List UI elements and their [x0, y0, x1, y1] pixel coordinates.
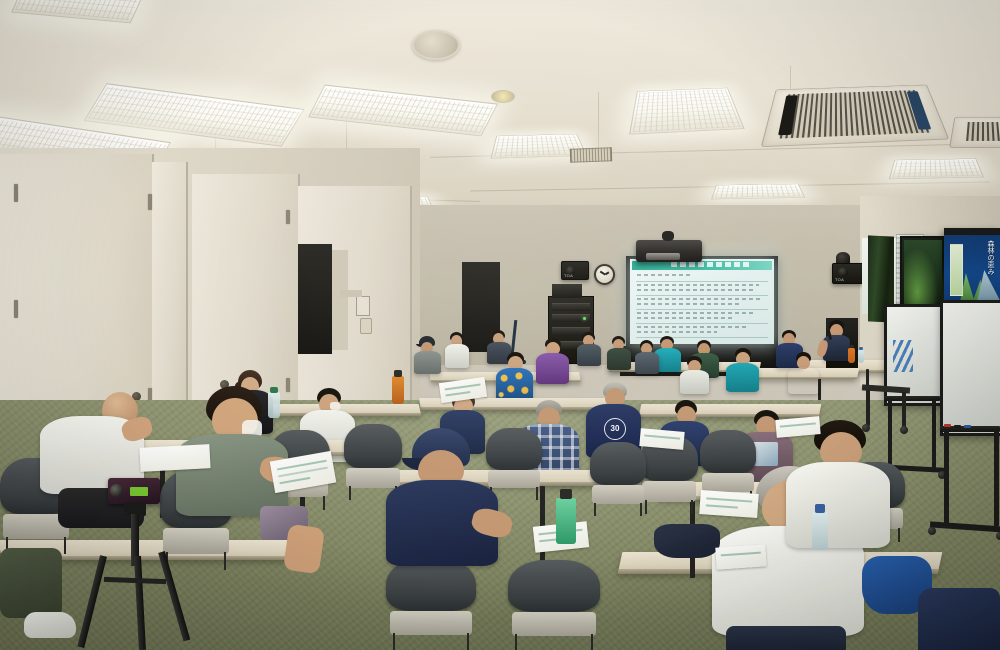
fluorescent-troffer [11, 0, 145, 23]
mobile-whiteboard-near[interactable] [940, 300, 1000, 436]
whiteboard-leg [994, 430, 999, 526]
clear-water-bottle[interactable] [268, 392, 280, 418]
speaker-brand-label: TOA [564, 273, 573, 278]
tea-bottle[interactable] [848, 348, 855, 363]
attendee-second-row-far-c [634, 340, 660, 374]
wall-speaker-left: TOA [561, 261, 589, 280]
seminar-room-photo: TOA TOA 森林の恵み [0, 0, 1000, 650]
partition-hinge [148, 194, 152, 210]
printed-handout[interactable] [699, 490, 759, 518]
printed-handout[interactable] [715, 544, 766, 569]
attendee-second-row-far-b [606, 336, 632, 370]
red-marker[interactable] [944, 424, 951, 427]
wall-clock [594, 264, 615, 285]
recessed-downlight [491, 90, 515, 103]
fluorescent-troffer [889, 158, 984, 179]
printed-handout[interactable] [639, 428, 684, 450]
ceiling-cassette-air-conditioner [761, 85, 950, 148]
trousers [726, 626, 846, 650]
leg [283, 524, 325, 575]
poster-vertical-text: 森林の恵み [983, 240, 994, 275]
wall-phone[interactable] [360, 318, 372, 334]
ceiling-cassette-air-conditioner [949, 117, 1000, 148]
green-sports-bottle[interactable] [556, 498, 576, 544]
table-leg [902, 392, 906, 428]
wall-switch-panel[interactable] [356, 296, 370, 316]
whiteboard-leg [944, 430, 949, 528]
ceiling-projector [636, 240, 702, 262]
table-caster [900, 426, 908, 434]
attendee-second-row-far-d [680, 356, 710, 394]
chair[interactable] [590, 442, 646, 516]
whiteboard-caster [928, 527, 936, 535]
anniversary-badge: 30 [604, 418, 626, 440]
wall-sign [340, 290, 362, 297]
fluorescent-troffer [308, 85, 498, 137]
partition-hinge [14, 184, 18, 202]
whiteboard-leg [932, 398, 936, 468]
attendee-gray-cap-far [414, 336, 442, 374]
attendee-teal-polo [726, 348, 760, 392]
return-air-vent [570, 147, 612, 162]
black-marker[interactable] [954, 425, 961, 428]
clear-water-bottle[interactable] [858, 350, 864, 363]
projection-screen [626, 256, 778, 348]
attendee-white-polo-far [444, 332, 470, 368]
fluorescent-troffer [711, 184, 805, 200]
attendee-foreground-right-partial [918, 588, 1000, 650]
partition-hinge [14, 300, 18, 318]
camcorder-lens [110, 484, 123, 497]
speaker-brand-label: TOA [835, 277, 844, 282]
fluorescent-troffer [629, 88, 745, 135]
chair[interactable] [508, 560, 600, 650]
equipment-on-rack [552, 284, 582, 298]
doorway-interior-wall [332, 250, 348, 350]
attendee-white-tee-right [786, 420, 896, 550]
wall-speaker-right: TOA [832, 263, 864, 284]
camcorder-badge [130, 487, 148, 496]
poster-side-panel [950, 244, 963, 296]
face-mask [330, 402, 340, 410]
printed-handout[interactable] [775, 416, 820, 438]
attendee-blue-floral [496, 352, 534, 404]
printed-handout[interactable] [139, 444, 210, 472]
tea-bottle[interactable] [392, 376, 404, 404]
blue-marker[interactable] [964, 425, 971, 428]
partition-hinge [286, 210, 290, 224]
camcorder[interactable] [108, 478, 160, 504]
shoe [24, 612, 76, 638]
slide-body [633, 272, 771, 341]
torso [786, 462, 890, 548]
clear-water-bottle[interactable] [812, 512, 828, 550]
smoke-detector [412, 30, 460, 60]
torso [918, 588, 1000, 650]
attendee-foreground-legs-left [0, 548, 80, 650]
whiteboard-caster [996, 532, 1000, 540]
trousers [0, 548, 62, 618]
attendee-second-row-far-e [788, 352, 820, 394]
slide-title-band [632, 261, 772, 270]
navy-folded-bag[interactable] [654, 524, 720, 558]
speaker-dome-right [836, 252, 850, 263]
attendee-navy-cap [386, 428, 506, 588]
attendee-second-row-far-a [576, 332, 602, 366]
attendee-purple-polo [536, 338, 570, 384]
open-doorway[interactable] [298, 244, 332, 354]
projected-slide [630, 259, 774, 344]
